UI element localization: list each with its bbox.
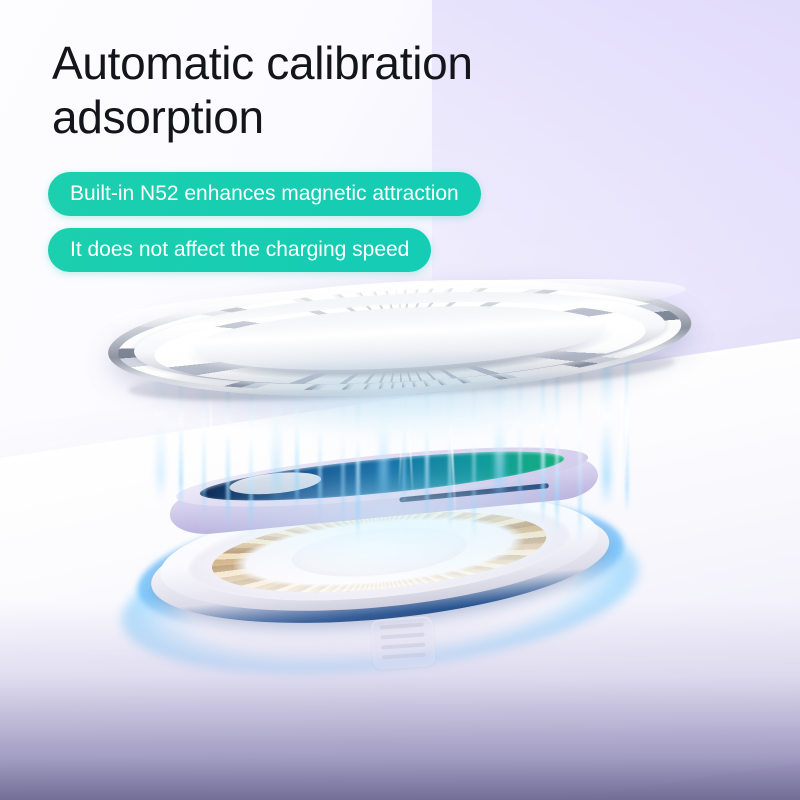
background-bottom-shade bbox=[0, 600, 800, 800]
upper-energy-glow bbox=[210, 352, 590, 442]
feature-badge-list: Built-in N52 enhances magnetic attractio… bbox=[48, 172, 800, 284]
page-title: Automatic calibration adsorption bbox=[52, 36, 692, 145]
headline-line-2: adsorption bbox=[52, 90, 692, 144]
feature-badge-charging-speed: It does not affect the charging speed bbox=[48, 228, 431, 272]
headline-line-1: Automatic calibration bbox=[52, 36, 692, 90]
product-banner: Automatic calibration adsorption Built-i… bbox=[0, 0, 800, 800]
feature-badge-magnetic: Built-in N52 enhances magnetic attractio… bbox=[48, 172, 481, 216]
